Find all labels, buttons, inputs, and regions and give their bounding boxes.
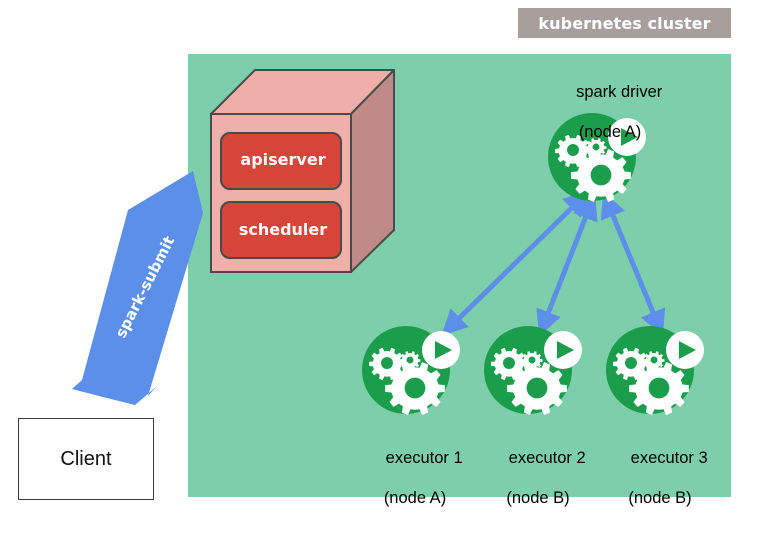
executor-1-node: (node A) (345, 488, 485, 508)
executor-3-node: (node B) (590, 488, 730, 508)
executor-1-name: executor 1 (386, 449, 463, 467)
executor-2-name: executor 2 (509, 449, 586, 467)
diagram-canvas: kubernetes cluster spark-submit apiserve… (0, 0, 761, 516)
executor-3-play-badge-icon[interactable] (666, 331, 704, 369)
node-executor-1[interactable] (362, 326, 460, 415)
executor-3-name: executor 3 (631, 449, 708, 467)
spark-driver-node: (node A) (520, 122, 700, 142)
spark-driver-label: spark driver (node A) (520, 62, 700, 182)
executor-1-play-badge-icon[interactable] (422, 331, 460, 369)
client-label: Client (60, 448, 111, 471)
executor-3-label: executor 3 (node B) (590, 428, 730, 548)
executor-1-label: executor 1 (node A) (345, 428, 485, 548)
client-box[interactable]: Client (18, 418, 154, 500)
spark-driver-name: spark driver (576, 83, 662, 101)
node-executor-2[interactable] (484, 326, 582, 415)
executor-2-node: (node B) (468, 488, 608, 508)
executor-2-label: executor 2 (node B) (468, 428, 608, 548)
executor-2-play-badge-icon[interactable] (544, 331, 582, 369)
node-executor-3[interactable] (606, 326, 704, 415)
